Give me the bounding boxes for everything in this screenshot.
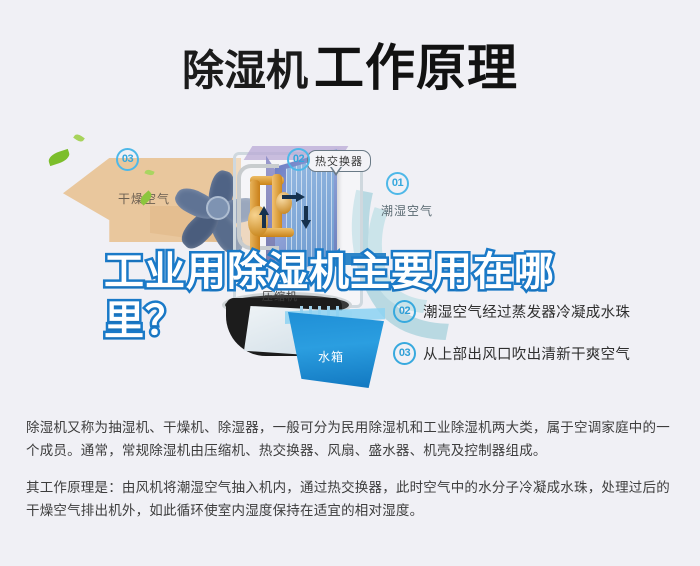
page-title-part-2: 工作原理: [314, 40, 518, 96]
leaf-icon: [47, 149, 71, 166]
paragraph: 其工作原理是：由风机将潮湿空气抽入机内，通过热交换器，此时空气中的水分子冷凝成水…: [26, 476, 678, 522]
paragraph: 除湿机又称为抽湿机、干燥机、除湿器，一般可分为民用除湿机和工业除湿机两大类，属于…: [26, 416, 678, 462]
leaf-icon: [73, 133, 85, 144]
step-badge-03: 03: [116, 148, 139, 171]
page-title: 除湿机工作原理: [0, 28, 700, 100]
page-title-part-1: 除湿机: [182, 47, 308, 94]
water-tank-label: 水箱: [318, 348, 344, 365]
moist-air-label: 潮湿空气: [381, 202, 433, 219]
right-arrow-icon: [296, 192, 305, 202]
article-body: 除湿机又称为抽湿机、干燥机、除湿器，一般可分为民用除湿机和工业除湿机两大类，属于…: [26, 416, 678, 522]
callout-tail-inner: [331, 166, 341, 173]
overlay-headline: 工业用除湿机主要用在哪里？: [104, 248, 604, 346]
step-badge-02: 02: [287, 148, 310, 171]
legend-item-label: 从上部出风口吹出清新干爽空气: [423, 343, 630, 364]
flow-arrow-stem: [262, 214, 266, 228]
up-arrow-icon: [259, 206, 269, 215]
down-arrow-icon: [301, 220, 311, 229]
fan-hub: [206, 196, 230, 220]
flow-arrow-stem: [282, 195, 296, 199]
infographic-page: 除湿机工作原理 干燥空气: [0, 0, 700, 566]
flow-arrow-stem: [304, 206, 308, 220]
step-badge-01: 01: [386, 172, 409, 195]
